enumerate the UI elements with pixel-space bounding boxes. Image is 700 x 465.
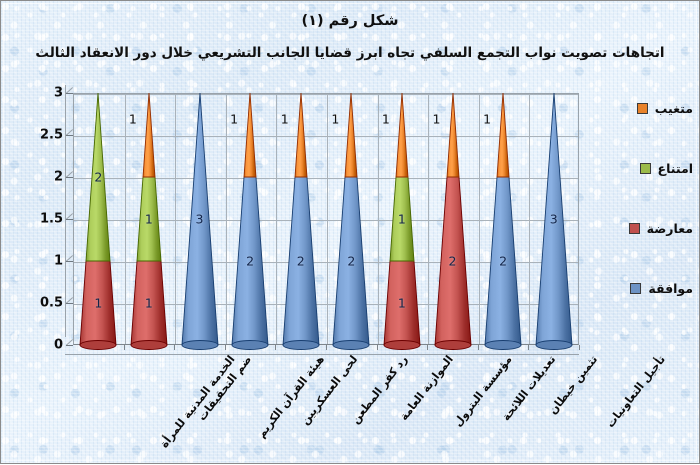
cone-segment-معارضة[interactable] xyxy=(384,261,420,345)
x-axis-tick-mark xyxy=(528,345,529,350)
y-axis-tick-mark xyxy=(66,303,73,304)
y-axis-tick-label: 1 xyxy=(19,254,63,269)
cone-segment-موافقة[interactable] xyxy=(485,177,521,345)
y-axis-tick-label: 2.5 xyxy=(19,128,63,143)
cone-bar[interactable] xyxy=(481,93,525,345)
cone-shape xyxy=(481,93,525,345)
cone-shape xyxy=(329,93,373,345)
cone-segment-موافقة[interactable] xyxy=(333,177,369,345)
legend-color-swatch xyxy=(637,103,648,114)
cone-shape xyxy=(380,93,424,345)
cone-bar[interactable] xyxy=(431,93,475,345)
cone-segment-امتناع[interactable] xyxy=(390,177,414,261)
legend-color-swatch xyxy=(629,223,640,234)
cone-bar[interactable] xyxy=(532,93,576,345)
cone-bar[interactable] xyxy=(329,93,373,345)
legend-item-label: موافقة xyxy=(648,281,693,296)
cone-segment-معارضة[interactable] xyxy=(80,261,116,345)
cone-shape xyxy=(178,93,222,345)
plot-wrapper: 00.511.522.53 12111321212111121213 الخدم… xyxy=(1,1,700,465)
y-axis-tick-mark xyxy=(66,177,73,178)
cone-shape xyxy=(76,93,120,345)
legend-item-معارضة[interactable]: معارضة xyxy=(629,221,693,236)
cone-series-layer: 12111321212111121213 xyxy=(73,93,579,345)
x-axis-tick-mark xyxy=(326,345,327,350)
x-axis-tick-mark xyxy=(174,345,175,350)
y-axis-tick-label: 2 xyxy=(19,170,63,185)
chart-frame: شكل رقم (١) اتجاهات تصويت نواب التجمع ال… xyxy=(0,0,700,464)
cone-segment-امتناع[interactable] xyxy=(137,177,161,261)
x-axis-tick-mark xyxy=(225,345,226,350)
cone-shape xyxy=(279,93,323,345)
legend-color-swatch xyxy=(640,163,651,174)
legend-item-امتناع[interactable]: امتناع xyxy=(640,161,693,176)
legend-item-متغيب[interactable]: متغيب xyxy=(637,101,693,116)
cone-segment-متغيب[interactable] xyxy=(396,93,408,177)
cone-segment-متغيب[interactable] xyxy=(447,93,459,177)
cone-shape xyxy=(532,93,576,345)
cone-shape xyxy=(228,93,272,345)
y-axis: 00.511.522.53 xyxy=(21,85,73,353)
y-axis-tick-mark xyxy=(66,261,73,262)
legend-item-label: متغيب xyxy=(655,101,693,116)
cone-segment-متغيب[interactable] xyxy=(143,93,155,177)
x-axis-category-label: الخدمة المدنية للمرأة xyxy=(158,353,238,450)
chart-legend: متغيبامتناعمعارضةموافقة xyxy=(597,101,693,341)
cone-segment-متغيب[interactable] xyxy=(497,93,509,177)
legend-item-label: معارضة xyxy=(647,221,693,236)
x-axis-tick-mark xyxy=(275,345,276,350)
cone-segment-متغيب[interactable] xyxy=(295,93,307,177)
y-axis-tick-mark xyxy=(66,219,73,220)
x-axis-labels: الخدمة المدنية للمرأةضم التحقيقاتهيئة ال… xyxy=(1,345,700,465)
cone-bar[interactable] xyxy=(76,93,120,345)
x-axis-tick-mark xyxy=(124,345,125,350)
cone-shape xyxy=(127,93,171,345)
legend-item-label: امتناع xyxy=(658,161,693,176)
cone-segment-موافقة[interactable] xyxy=(536,93,572,345)
legend-item-موافقة[interactable]: موافقة xyxy=(630,281,693,296)
cone-bar[interactable] xyxy=(279,93,323,345)
cone-segment-معارضة[interactable] xyxy=(131,261,167,345)
legend-color-swatch xyxy=(630,283,641,294)
cone-segment-معارضة[interactable] xyxy=(435,177,471,345)
cone-segment-موافقة[interactable] xyxy=(232,177,268,345)
cone-bar[interactable] xyxy=(178,93,222,345)
x-axis-category-label: تأجيل التعاونيات xyxy=(603,353,667,430)
y-axis-tick-label: 0.5 xyxy=(19,296,63,311)
cone-segment-موافقة[interactable] xyxy=(182,93,218,345)
cone-bar[interactable] xyxy=(380,93,424,345)
cone-segment-امتناع[interactable] xyxy=(86,93,110,261)
x-axis-tick-mark xyxy=(478,345,479,350)
x-axis-tick-mark xyxy=(427,345,428,350)
y-axis-tick-label: 3 xyxy=(19,86,63,101)
y-axis-tick-mark xyxy=(66,135,73,136)
cone-segment-متغيب[interactable] xyxy=(345,93,357,177)
cone-segment-متغيب[interactable] xyxy=(244,93,256,177)
cone-bar[interactable] xyxy=(127,93,171,345)
x-axis-tick-mark xyxy=(579,345,580,350)
x-axis-tick-mark xyxy=(377,345,378,350)
y-axis-tick-label: 1.5 xyxy=(19,212,63,227)
cone-shape xyxy=(431,93,475,345)
cone-bar[interactable] xyxy=(228,93,272,345)
y-axis-tick-mark xyxy=(66,93,73,94)
cone-segment-موافقة[interactable] xyxy=(283,177,319,345)
